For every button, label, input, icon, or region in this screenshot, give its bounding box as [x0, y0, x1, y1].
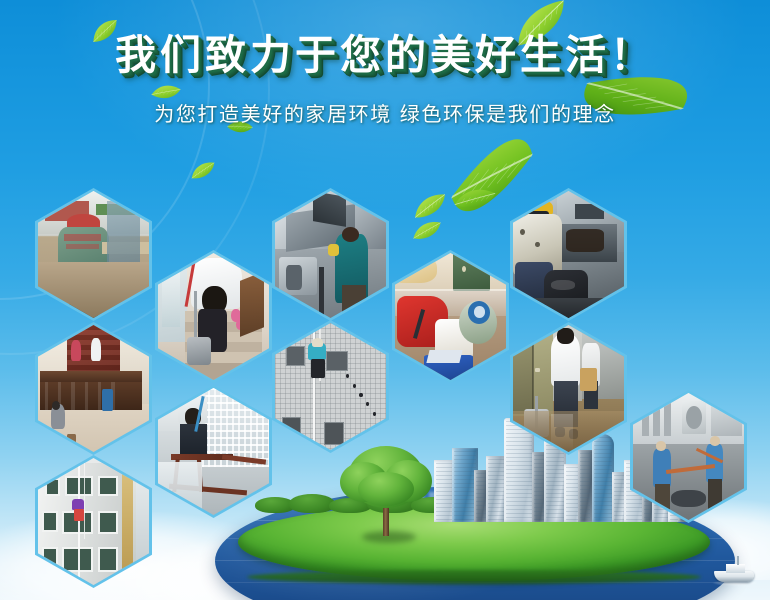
hex-photo-clip — [158, 253, 269, 380]
hex-tile-building-exterior[interactable] — [35, 455, 152, 588]
hex-tile-handrail-polish[interactable] — [35, 322, 152, 455]
hex-tile-stone-cutting[interactable] — [35, 188, 152, 321]
subline-container: 为您打造美好的家居环境 绿色环保是我们的理念 — [0, 98, 770, 127]
building-tallest — [504, 418, 534, 522]
page-subtitle: 为您打造美好的家居环境 绿色环保是我们的理念 — [154, 98, 616, 127]
hex-photo-image — [38, 325, 149, 452]
hex-photo-clip — [158, 388, 269, 515]
leaf-small-near-duct — [410, 192, 450, 220]
building-round-tower — [592, 434, 614, 522]
hex-photo-image — [158, 253, 269, 380]
hex-tile-kitchen-degrease[interactable] — [510, 188, 627, 321]
hex-tile-facade-rope-access[interactable] — [272, 320, 389, 453]
hex-photo-image — [275, 191, 386, 318]
building — [486, 456, 506, 522]
boat-deck — [726, 564, 745, 573]
hex-photo-image — [38, 191, 149, 318]
leaf-small-bottom-cent — [411, 220, 443, 240]
hex-photo-image — [275, 323, 386, 450]
hex-tile-carpet-machine[interactable] — [392, 250, 509, 383]
promo-banner: 我们致力于您的美好生活！ 为您打造美好的家居环境 绿色环保是我们的理念 — [0, 0, 770, 600]
hex-photo-clip — [38, 325, 149, 452]
tree-crown — [358, 472, 414, 506]
hex-photo-clip — [275, 323, 386, 450]
hex-photo-clip — [275, 191, 386, 318]
page-title: 我们致力于您的美好生活！ — [115, 34, 655, 77]
small-boat — [712, 557, 758, 589]
tree-shadow — [362, 531, 416, 543]
hex-photo-clip — [513, 191, 624, 318]
hex-tile-duct-cleaning[interactable] — [272, 188, 389, 321]
leaf-small-lower-left — [189, 161, 217, 180]
hex-photo-image — [513, 191, 624, 318]
boat-mast — [737, 556, 739, 565]
headline-container: 我们致力于您的美好生活！ — [0, 34, 770, 77]
hex-photo-clip — [395, 253, 506, 380]
hex-photo-clip — [38, 191, 149, 318]
green-tree — [336, 444, 436, 536]
hex-photo-image — [395, 253, 506, 380]
hex-photo-image — [38, 458, 149, 585]
hex-tile-stair-mopping[interactable] — [155, 250, 272, 383]
building — [578, 450, 592, 522]
hex-photo-clip — [38, 458, 149, 585]
leaf-large-mid-center — [450, 127, 534, 225]
shrub — [289, 494, 335, 513]
leaf-small-right-of-it — [454, 185, 497, 212]
hex-photo-image — [158, 388, 269, 515]
